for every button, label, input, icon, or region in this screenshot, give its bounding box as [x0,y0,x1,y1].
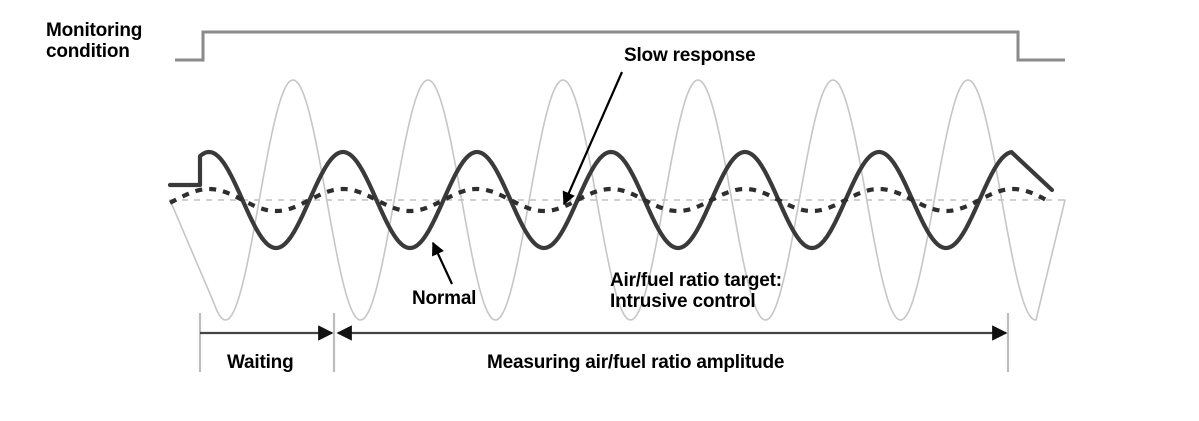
monitoring-condition-step [175,32,1065,60]
normal-pointer [433,243,452,284]
slow-response-label: Slow response [624,45,756,66]
normal-label: Normal [412,288,476,309]
figure-root: Monitoring condition Slow response Norma… [0,0,1199,421]
measuring-phase-label: Measuring air/fuel ratio amplitude [487,352,784,373]
waiting-phase-label: Waiting [227,352,294,373]
monitoring-condition-label: Monitoring condition [46,20,142,63]
airfuel-ratio-target-label: Air/fuel ratio target: Intrusive control [610,270,782,313]
